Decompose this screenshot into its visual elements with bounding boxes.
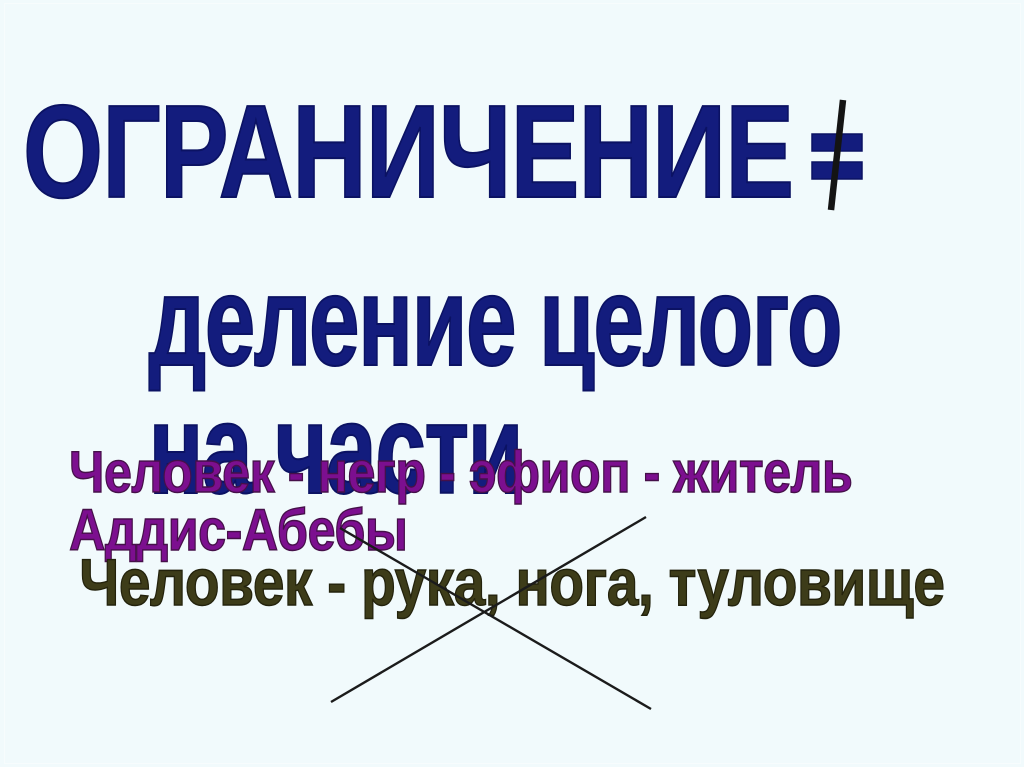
page-title: ОГРАНИЧЕНИЕ: [23, 86, 793, 218]
crossed-out-example-text: Человек - рука, нога, туловище: [79, 549, 944, 615]
title-row: ОГРАНИЧЕНИЕ: [0, 86, 1024, 216]
not-equal-icon: [806, 96, 870, 212]
presentation-slide: ОГРАНИЧЕНИЕ деление целого на части Чело…: [0, 0, 1024, 767]
crossed-out-example-row: Человек - рука, нога, туловище: [0, 549, 1024, 621]
correct-example-text: Человек - негр - эфиоп - житель Аддис-Аб…: [69, 444, 955, 560]
subtitle-row: деление целого на части: [0, 258, 1024, 383]
correct-example-row: Человек - негр - эфиоп - житель Аддис-Аб…: [0, 444, 1024, 506]
